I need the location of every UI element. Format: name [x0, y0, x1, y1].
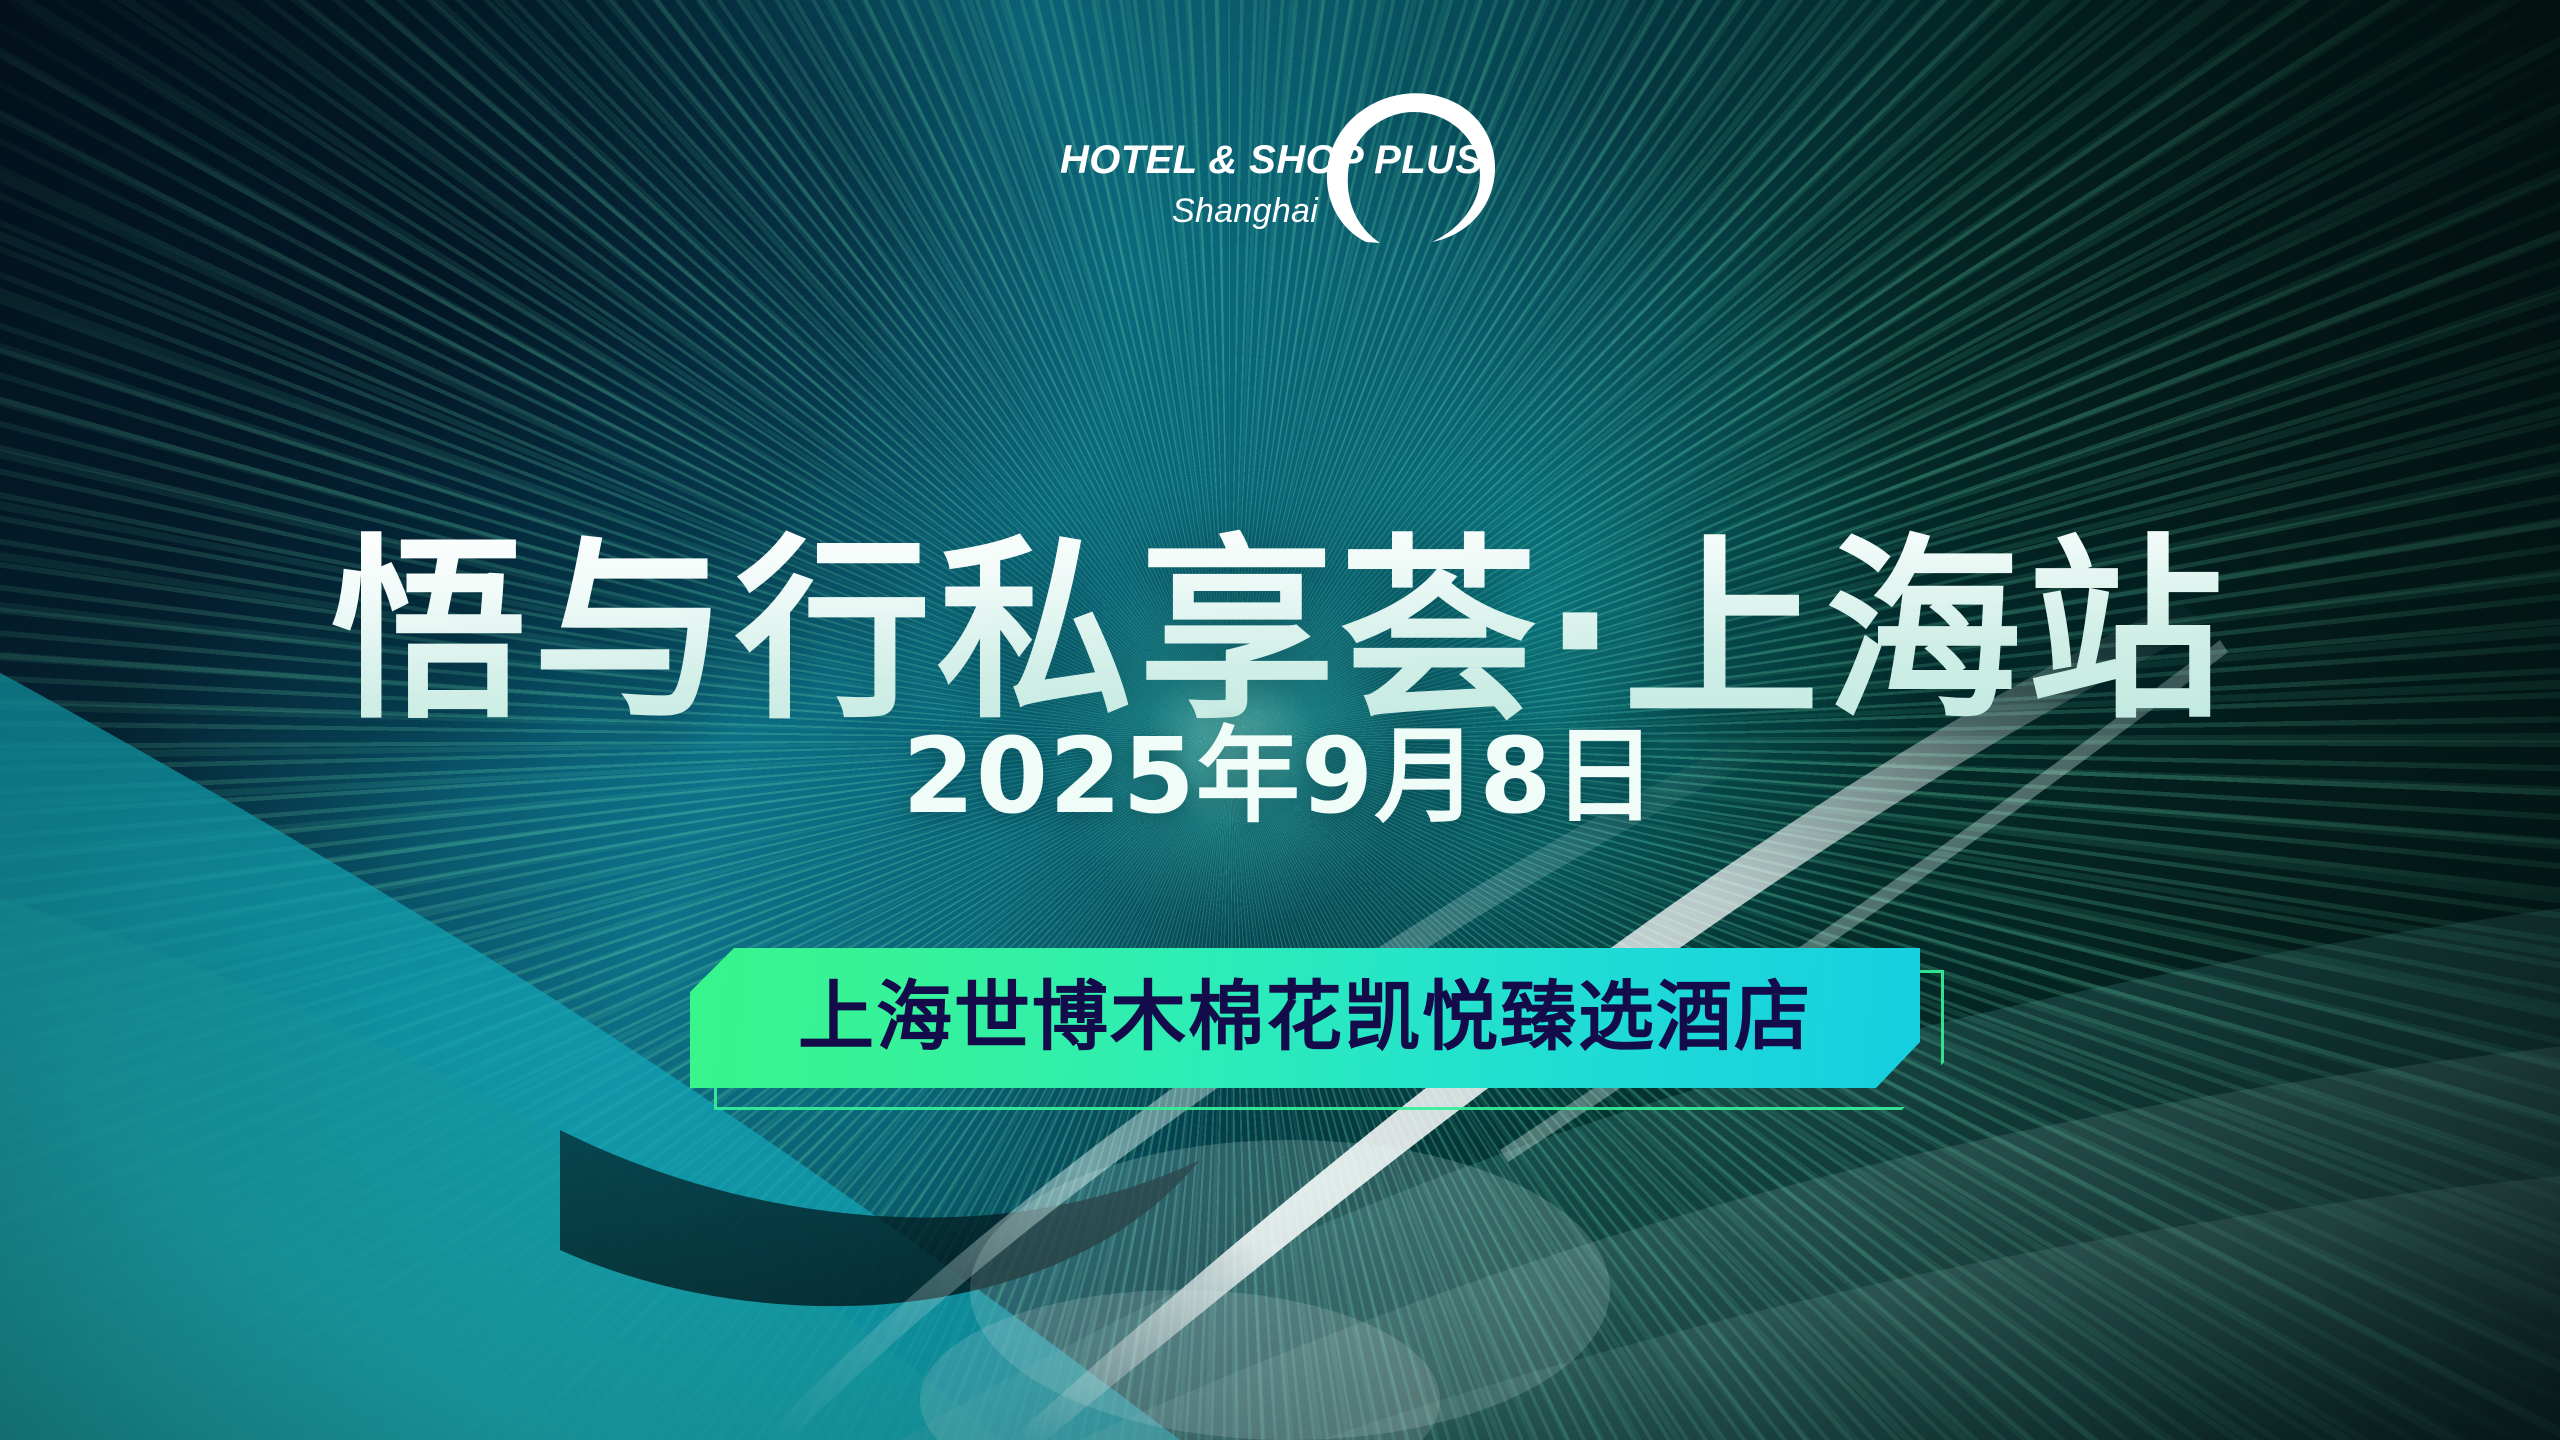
- event-date: 2025年9月8日: [0, 724, 2560, 828]
- event-banner: HOTEL & SHOP PLUS Shanghai 悟与行私享荟·上海站 20…: [0, 0, 2560, 1440]
- crescent-ring-icon: [1322, 82, 1502, 252]
- venue-badge-plate: 上海世博木棉花凯悦臻选酒店: [690, 948, 1920, 1088]
- venue-name: 上海世博木棉花凯悦臻选酒店: [798, 979, 1812, 1057]
- page-title: 悟与行私享荟·上海站: [0, 529, 2560, 737]
- logo-sublabel: Shanghai: [1172, 194, 1318, 228]
- hotel-shop-plus-logo: HOTEL & SHOP PLUS Shanghai: [1060, 88, 1520, 258]
- venue-badge: 上海世博木棉花凯悦臻选酒店: [690, 948, 1920, 1088]
